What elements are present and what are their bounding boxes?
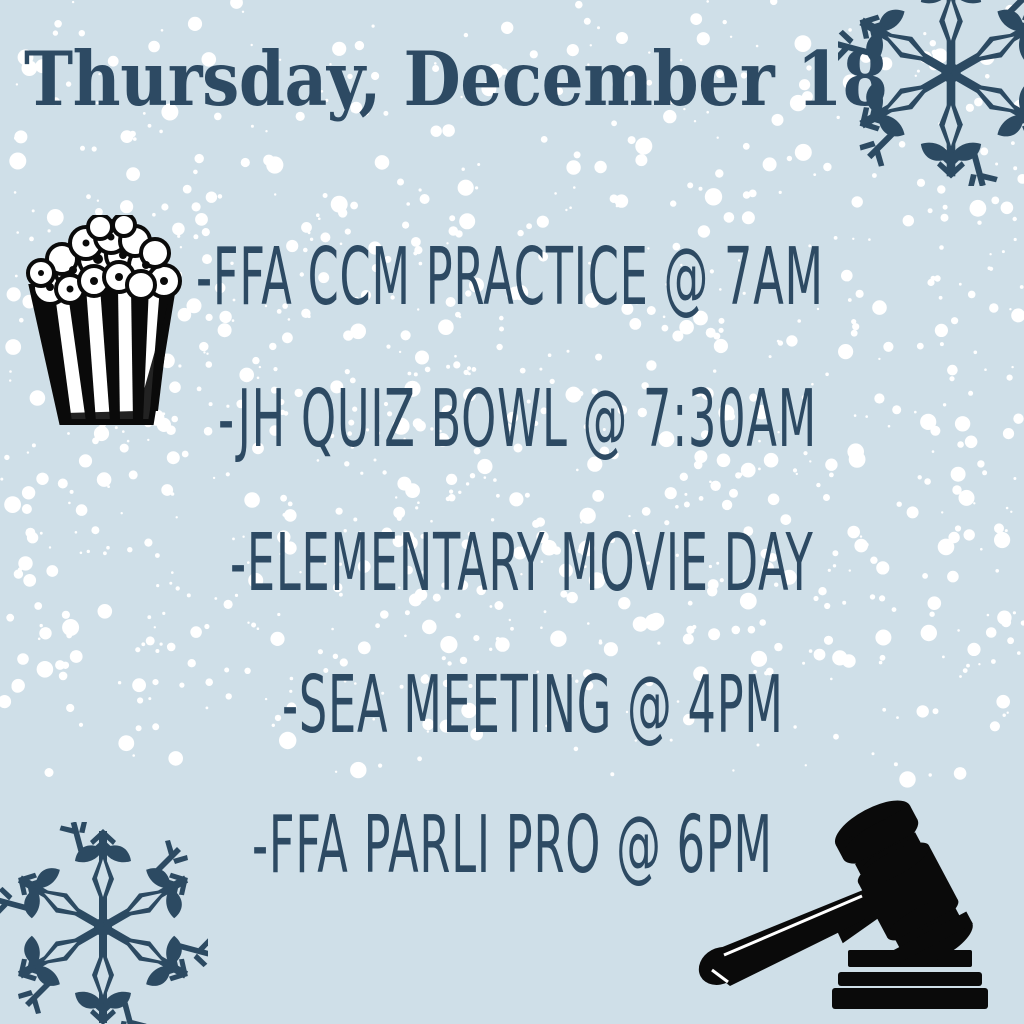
announcement-poster: Thursday, December 18 -FFA CCM PRACTICE … — [0, 0, 1024, 1024]
list-item: -FFA CCM PRACTICE @ 7AM — [196, 237, 824, 316]
list-item: -FFA PARLI PRO @ 6PM — [252, 805, 773, 884]
event-list: -FFA CCM PRACTICE @ 7AM -JH QUIZ BOWL @ … — [0, 210, 1024, 910]
page-title: Thursday, December 18 — [24, 36, 781, 122]
list-item: -ELEMENTARY MOVIE DAY — [230, 523, 814, 602]
list-item: -JH QUIZ BOWL @ 7:30AM — [218, 379, 817, 458]
list-item: -SEA MEETING @ 4PM — [282, 665, 784, 744]
